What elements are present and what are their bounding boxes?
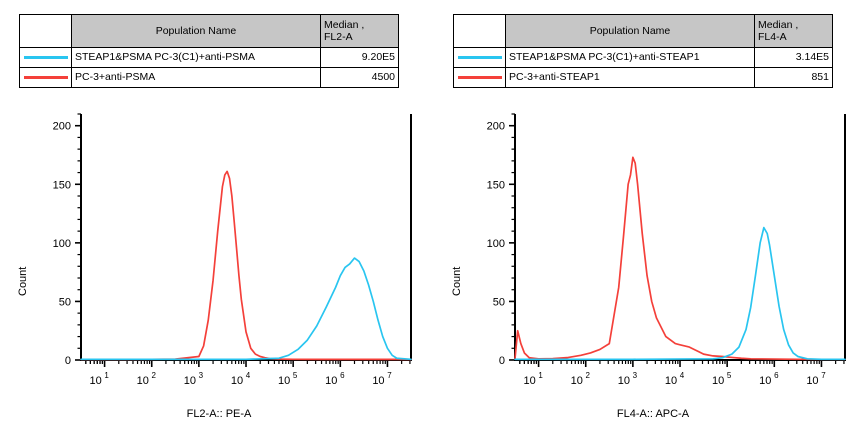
figure-root: Population Name Median , FL2-A STEAP1&PS… bbox=[0, 0, 867, 443]
legend-median-value: 851 bbox=[755, 68, 833, 88]
legend-swatch-cell bbox=[20, 48, 72, 68]
svg-text:10: 10 bbox=[184, 375, 196, 387]
svg-text:3: 3 bbox=[199, 371, 204, 380]
svg-text:10: 10 bbox=[89, 375, 101, 387]
svg-text:10: 10 bbox=[806, 375, 818, 387]
table-row: PC-3+anti-STEAP1 851 bbox=[454, 68, 833, 88]
panel-right: Population Name Median , FL4-A STEAP1&PS… bbox=[434, 0, 867, 443]
legend-header-row: Population Name Median , FL4-A bbox=[454, 15, 833, 48]
svg-text:6: 6 bbox=[340, 371, 345, 380]
plot-canvas-right: 050100150200101102103104105106107 bbox=[453, 108, 853, 408]
svg-text:50: 50 bbox=[493, 296, 505, 308]
svg-text:100: 100 bbox=[487, 238, 505, 250]
svg-text:150: 150 bbox=[487, 179, 505, 191]
histogram-plot-right: Count 050100150200101102103104105106107 … bbox=[453, 108, 853, 408]
legend-header-median-line1: Median , bbox=[324, 19, 398, 31]
panel-left: Population Name Median , FL2-A STEAP1&PS… bbox=[0, 0, 433, 443]
svg-text:1: 1 bbox=[104, 371, 109, 380]
legend-table-right: Population Name Median , FL4-A STEAP1&PS… bbox=[453, 14, 833, 88]
svg-text:6: 6 bbox=[774, 371, 779, 380]
svg-text:0: 0 bbox=[499, 355, 505, 367]
svg-text:100: 100 bbox=[53, 238, 71, 250]
svg-text:4: 4 bbox=[246, 371, 251, 380]
legend-header-median-line2: FL2-A bbox=[324, 31, 398, 43]
svg-text:2: 2 bbox=[586, 371, 591, 380]
svg-text:10: 10 bbox=[618, 375, 630, 387]
histogram-plot-left: Count 050100150200101102103104105106107 … bbox=[19, 108, 419, 408]
legend-header-swatch bbox=[454, 15, 506, 48]
legend-color-swatch bbox=[24, 56, 68, 59]
legend-median-value: 4500 bbox=[321, 68, 399, 88]
svg-text:3: 3 bbox=[633, 371, 638, 380]
legend-swatch-cell bbox=[20, 68, 72, 88]
legend-population-name: PC-3+anti-PSMA bbox=[72, 68, 321, 88]
svg-text:10: 10 bbox=[523, 375, 535, 387]
legend-median-value: 9.20E5 bbox=[321, 48, 399, 68]
legend-header-median: Median , FL2-A bbox=[321, 15, 399, 48]
legend-color-swatch bbox=[458, 76, 502, 79]
legend-header-population: Population Name bbox=[506, 15, 755, 48]
legend-header-population: Population Name bbox=[72, 15, 321, 48]
svg-text:10: 10 bbox=[278, 375, 290, 387]
table-row: STEAP1&PSMA PC-3(C1)+anti-PSMA 9.20E5 bbox=[20, 48, 399, 68]
legend-header-swatch bbox=[20, 15, 72, 48]
svg-text:200: 200 bbox=[487, 121, 505, 133]
legend-population-name: STEAP1&PSMA PC-3(C1)+anti-STEAP1 bbox=[506, 48, 755, 68]
svg-text:10: 10 bbox=[231, 375, 243, 387]
table-row: PC-3+anti-PSMA 4500 bbox=[20, 68, 399, 88]
legend-population-name: STEAP1&PSMA PC-3(C1)+anti-PSMA bbox=[72, 48, 321, 68]
x-axis-label: FL2-A:: PE-A bbox=[19, 408, 419, 420]
legend-header-median-line1: Median , bbox=[758, 19, 832, 31]
svg-text:4: 4 bbox=[680, 371, 685, 380]
legend-swatch-cell bbox=[454, 68, 506, 88]
svg-text:150: 150 bbox=[53, 179, 71, 191]
svg-text:1: 1 bbox=[538, 371, 543, 380]
svg-text:7: 7 bbox=[387, 371, 392, 380]
legend-table-left: Population Name Median , FL2-A STEAP1&PS… bbox=[19, 14, 399, 88]
legend-population-name: PC-3+anti-STEAP1 bbox=[506, 68, 755, 88]
svg-text:5: 5 bbox=[727, 371, 732, 380]
table-row: STEAP1&PSMA PC-3(C1)+anti-STEAP1 3.14E5 bbox=[454, 48, 833, 68]
legend-color-swatch bbox=[24, 76, 68, 79]
svg-text:200: 200 bbox=[53, 121, 71, 133]
svg-text:50: 50 bbox=[59, 296, 71, 308]
svg-text:10: 10 bbox=[759, 375, 771, 387]
legend-median-value: 3.14E5 bbox=[755, 48, 833, 68]
svg-text:0: 0 bbox=[65, 355, 71, 367]
legend-swatch-cell bbox=[454, 48, 506, 68]
svg-text:5: 5 bbox=[293, 371, 298, 380]
svg-text:10: 10 bbox=[712, 375, 724, 387]
svg-text:10: 10 bbox=[665, 375, 677, 387]
svg-text:2: 2 bbox=[152, 371, 157, 380]
legend-color-swatch bbox=[458, 56, 502, 59]
plot-canvas-left: 050100150200101102103104105106107 bbox=[19, 108, 419, 408]
legend-header-median: Median , FL4-A bbox=[755, 15, 833, 48]
legend-header-median-line2: FL4-A bbox=[758, 31, 832, 43]
svg-text:10: 10 bbox=[372, 375, 384, 387]
svg-text:10: 10 bbox=[137, 375, 149, 387]
svg-text:7: 7 bbox=[821, 371, 826, 380]
svg-text:10: 10 bbox=[571, 375, 583, 387]
legend-header-row: Population Name Median , FL2-A bbox=[20, 15, 399, 48]
x-axis-label: FL4-A:: APC-A bbox=[453, 408, 853, 420]
svg-text:10: 10 bbox=[325, 375, 337, 387]
